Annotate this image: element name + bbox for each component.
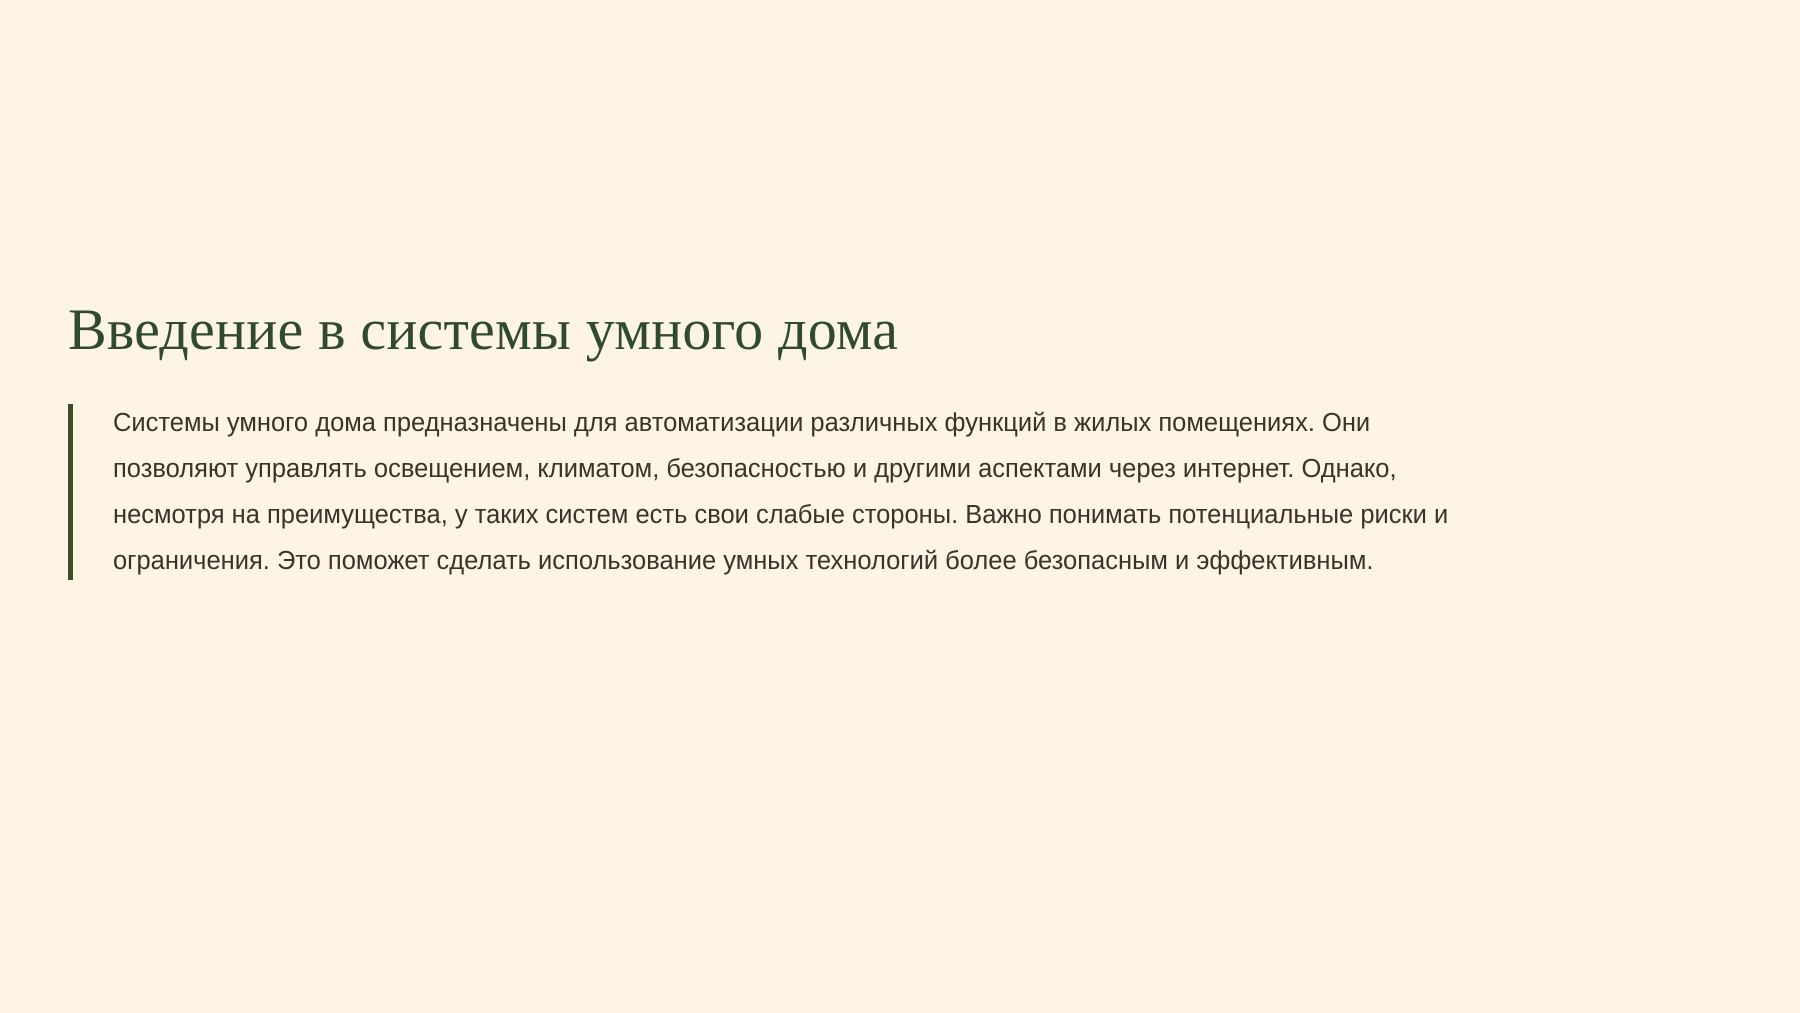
slide-root: Введение в системы умного дома Системы у… xyxy=(0,0,1800,1013)
page-title: Введение в системы умного дома xyxy=(68,296,1468,363)
intro-paragraph: Системы умного дома предназначены для ав… xyxy=(113,400,1458,584)
accent-bar xyxy=(68,404,73,580)
intro-callout-block: Системы умного дома предназначены для ав… xyxy=(68,400,1468,584)
content-container: Введение в системы умного дома Системы у… xyxy=(68,296,1468,584)
